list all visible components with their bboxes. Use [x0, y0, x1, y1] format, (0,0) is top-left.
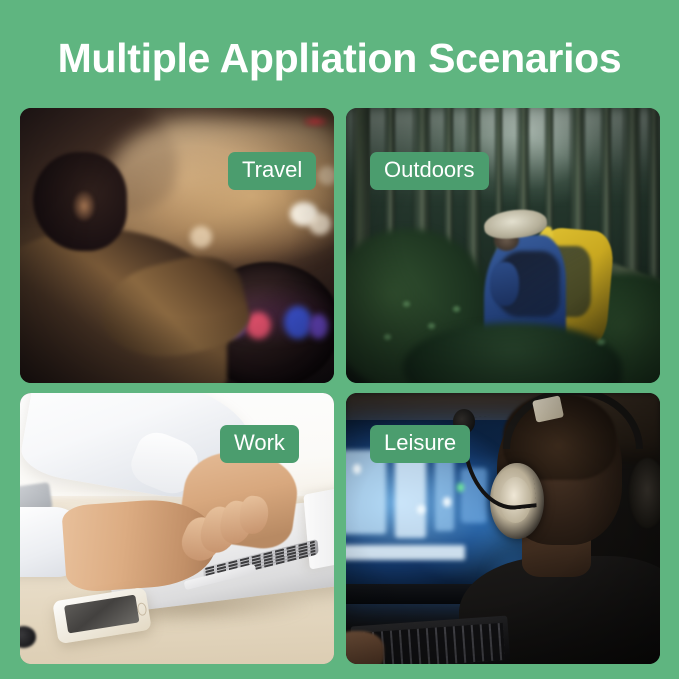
scenario-label-travel: Travel: [228, 152, 316, 190]
scenario-panel-outdoors[interactable]: Outdoors: [346, 108, 660, 383]
scenario-panel-travel[interactable]: Travel: [20, 108, 334, 383]
scenario-panel-leisure[interactable]: Leisure: [346, 393, 660, 664]
outdoors-photo: [346, 108, 660, 383]
phone-screen: [64, 594, 139, 633]
page-title: Multiple Appliation Scenarios: [0, 34, 679, 82]
scenario-grid: Travel: [20, 108, 660, 664]
travel-photo: [20, 108, 334, 383]
travel-vignette: [20, 108, 334, 383]
scenario-label-outdoors: Outdoors: [370, 152, 489, 190]
outdoors-vignette: [346, 108, 660, 383]
scenario-label-work: Work: [220, 425, 299, 463]
scenario-panel-work[interactable]: Work: [20, 393, 334, 664]
scenario-label-leisure: Leisure: [370, 425, 470, 463]
application-scenarios-poster: Multiple Appliation Scenarios: [0, 0, 679, 679]
